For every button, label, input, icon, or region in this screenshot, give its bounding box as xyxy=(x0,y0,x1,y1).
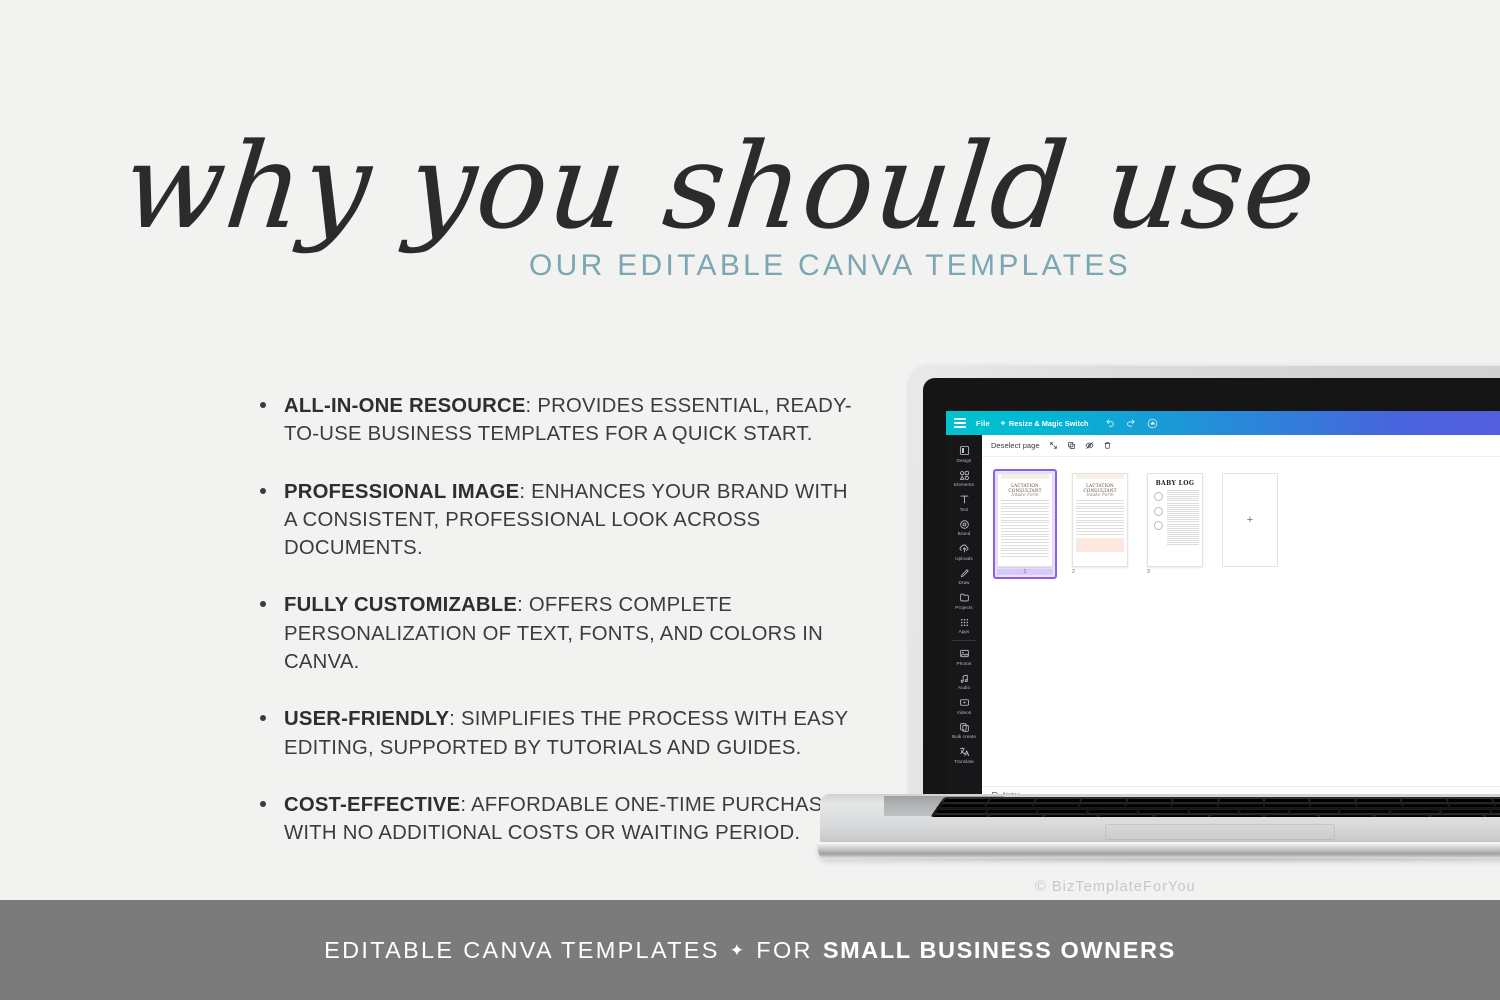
sidebar-item-label: Text xyxy=(960,507,969,512)
page-thumbnail-strip: LACTATION CONSULTANT Intake Form xyxy=(982,457,1500,579)
thumb-title: LACTATION CONSULTANT xyxy=(1000,483,1050,493)
watermark: © BizTemplateForYou xyxy=(1035,879,1196,895)
bullet-dot-icon xyxy=(260,715,266,721)
bullet-dot-icon xyxy=(260,402,266,408)
footer-banner: EDITABLE CANVA TEMPLATES ✦ FOR SMALL BUS… xyxy=(0,900,1500,1000)
hide-page-icon[interactable] xyxy=(1085,441,1094,450)
list-item: FULLY CUSTOMIZABLE: OFFERS COMPLETE PERS… xyxy=(256,591,856,676)
page-thumbnail[interactable]: LACTATION CONSULTANT Intake Form xyxy=(1068,469,1132,579)
magic-sparkle-icon xyxy=(1000,420,1006,426)
thumb-header-band xyxy=(1076,474,1124,479)
brand-icon xyxy=(959,519,970,530)
list-item-term: ALL-IN-ONE RESOURCE xyxy=(284,395,526,417)
bullet-dot-icon xyxy=(260,488,266,494)
diaper-icon xyxy=(1154,507,1163,516)
sidebar-item-label: Uploads xyxy=(955,556,973,561)
list-item-term: FULLY CUSTOMIZABLE xyxy=(284,594,517,616)
list-item: PROFESSIONAL IMAGE: ENHANCES YOUR BRAND … xyxy=(256,478,856,563)
sidebar-item-brand[interactable]: Brand xyxy=(947,515,981,540)
bullet-dot-icon xyxy=(260,601,266,607)
add-page-placeholder[interactable]: + xyxy=(1218,469,1282,571)
page-title: why you should use xyxy=(0,120,1500,252)
sidebar-item-audio[interactable]: Audio xyxy=(947,669,981,694)
videos-icon xyxy=(959,697,970,708)
photos-icon xyxy=(959,648,970,659)
sidebar-item-label: Videos xyxy=(957,710,972,715)
list-item-term: PROFESSIONAL IMAGE xyxy=(284,481,519,503)
sidebar-item-label: Apps xyxy=(959,629,970,634)
sidebar-item-label: Elements xyxy=(954,482,974,487)
resize-magic-switch-button[interactable]: Resize & Magic Switch xyxy=(1000,419,1089,428)
laptop-shadow xyxy=(828,858,1500,863)
page-subtitle: OUR EDITABLE CANVA TEMPLATES xyxy=(0,249,1500,283)
canva-sidebar: Design Elements Text xyxy=(946,435,982,798)
page-thumbnail[interactable]: LACTATION CONSULTANT Intake Form xyxy=(993,469,1057,579)
sidebar-item-videos[interactable]: Videos xyxy=(947,693,981,718)
page-preview[interactable]: BABY LOG xyxy=(1147,473,1203,567)
thumb-subtitle: Intake Form xyxy=(998,493,1052,498)
sidebar-item-label: Design xyxy=(957,458,972,463)
expand-page-icon[interactable] xyxy=(1049,441,1058,450)
list-item: ALL-IN-ONE RESOURCE: PROVIDES ESSENTIAL,… xyxy=(256,392,856,449)
sidebar-item-photos[interactable]: Photos xyxy=(947,644,981,669)
sidebar-item-projects[interactable]: Projects xyxy=(947,588,981,613)
list-item: USER-FRIENDLY: SIMPLIFIES THE PROCESS WI… xyxy=(256,705,856,762)
page-number: 1 xyxy=(997,569,1053,575)
page-preview[interactable]: LACTATION CONSULTANT Intake Form xyxy=(1072,473,1128,567)
sidebar-item-label: Brand xyxy=(958,531,971,536)
add-page-button[interactable]: + xyxy=(1222,473,1278,567)
sleep-icon xyxy=(1154,521,1163,530)
sidebar-item-draw[interactable]: Draw xyxy=(947,564,981,589)
canva-top-bar: File Resize & Magic Switch Intake xyxy=(946,411,1500,435)
uploads-icon xyxy=(959,543,970,554)
thumb-note-block xyxy=(1076,538,1124,552)
footer-strong-text: SMALL BUSINESS OWNERS xyxy=(823,937,1176,964)
text-icon xyxy=(959,494,970,505)
laptop-deck xyxy=(820,794,1500,846)
page-number: 3 xyxy=(1147,569,1203,575)
bullet-dot-icon xyxy=(260,801,266,807)
sidebar-item-label: Translate xyxy=(954,759,974,764)
laptop-trackpad xyxy=(1105,824,1335,840)
sidebar-item-uploads[interactable]: Uploads xyxy=(947,539,981,564)
thumb-title: BABY LOG xyxy=(1148,480,1202,487)
audio-icon xyxy=(959,673,970,684)
page-preview[interactable]: LACTATION CONSULTANT Intake Form xyxy=(997,473,1053,567)
deselect-page-button[interactable]: Deselect page xyxy=(991,441,1040,450)
sidebar-divider xyxy=(952,640,976,641)
feeding-icon xyxy=(1154,492,1163,501)
footer-left-text: EDITABLE CANVA TEMPLATES xyxy=(324,937,720,964)
cloud-icon[interactable] xyxy=(1147,418,1158,429)
thumb-title: LACTATION CONSULTANT xyxy=(1075,483,1125,493)
page-toolbar: Deselect page xyxy=(982,435,1500,457)
poster-canvas: why you should use OUR EDITABLE CANVA TE… xyxy=(0,0,1500,1000)
laptop-front-edge xyxy=(818,842,1500,859)
undo-icon[interactable] xyxy=(1105,418,1115,428)
sidebar-item-apps[interactable]: Apps xyxy=(947,613,981,638)
sidebar-item-design[interactable]: Design xyxy=(947,441,981,466)
hamburger-icon[interactable] xyxy=(954,418,966,427)
laptop-bezel: File Resize & Magic Switch Intake xyxy=(923,378,1500,798)
translate-icon xyxy=(959,746,970,757)
canva-app-window: File Resize & Magic Switch Intake xyxy=(946,411,1500,798)
thumb-subtitle: Intake Form xyxy=(1073,493,1127,498)
list-item-term: COST-EFFECTIVE xyxy=(284,794,460,816)
page-thumbnail[interactable]: BABY LOG xyxy=(1143,469,1207,579)
sidebar-item-text[interactable]: Text xyxy=(947,490,981,515)
sidebar-item-label: Bulk create xyxy=(952,734,976,739)
page-number: 2 xyxy=(1072,569,1128,575)
sidebar-item-label: Draw xyxy=(958,580,969,585)
canva-body: Design Elements Text xyxy=(946,435,1500,798)
bulk-create-icon xyxy=(959,722,970,733)
thumb-header-band xyxy=(1001,474,1049,479)
sidebar-item-elements[interactable]: Elements xyxy=(947,466,981,491)
sidebar-item-translate[interactable]: Translate xyxy=(947,742,981,767)
projects-icon xyxy=(959,592,970,603)
sidebar-item-label: Projects xyxy=(955,605,972,610)
draw-icon xyxy=(959,568,970,579)
sidebar-item-bulk-create[interactable]: Bulk create xyxy=(947,718,981,743)
duplicate-page-icon[interactable] xyxy=(1067,441,1076,450)
footer-text: EDITABLE CANVA TEMPLATES ✦ FOR SMALL BUS… xyxy=(324,937,1176,964)
sidebar-item-label: Photos xyxy=(957,661,972,666)
redo-icon[interactable] xyxy=(1126,418,1136,428)
laptop-base xyxy=(818,794,1500,864)
list-item: COST-EFFECTIVE: AFFORDABLE ONE-TIME PURC… xyxy=(256,791,856,848)
laptop-mockup: File Resize & Magic Switch Intake xyxy=(818,366,1500,866)
laptop-keyboard xyxy=(930,797,1500,817)
sparkle-icon: ✦ xyxy=(730,942,747,959)
elements-icon xyxy=(959,470,970,481)
footer-mid-text: FOR xyxy=(756,937,813,964)
design-icon xyxy=(959,445,970,456)
apps-icon xyxy=(959,617,970,628)
laptop-lid: File Resize & Magic Switch Intake xyxy=(910,366,1500,798)
benefits-list: ALL-IN-ONE RESOURCE: PROVIDES ESSENTIAL,… xyxy=(256,392,856,848)
canva-canvas-area: Deselect page xyxy=(982,435,1500,798)
list-item-term: USER-FRIENDLY xyxy=(284,708,449,730)
delete-page-icon[interactable] xyxy=(1103,441,1112,450)
file-menu-button[interactable]: File xyxy=(976,419,990,428)
sidebar-item-label: Audio xyxy=(958,685,970,690)
